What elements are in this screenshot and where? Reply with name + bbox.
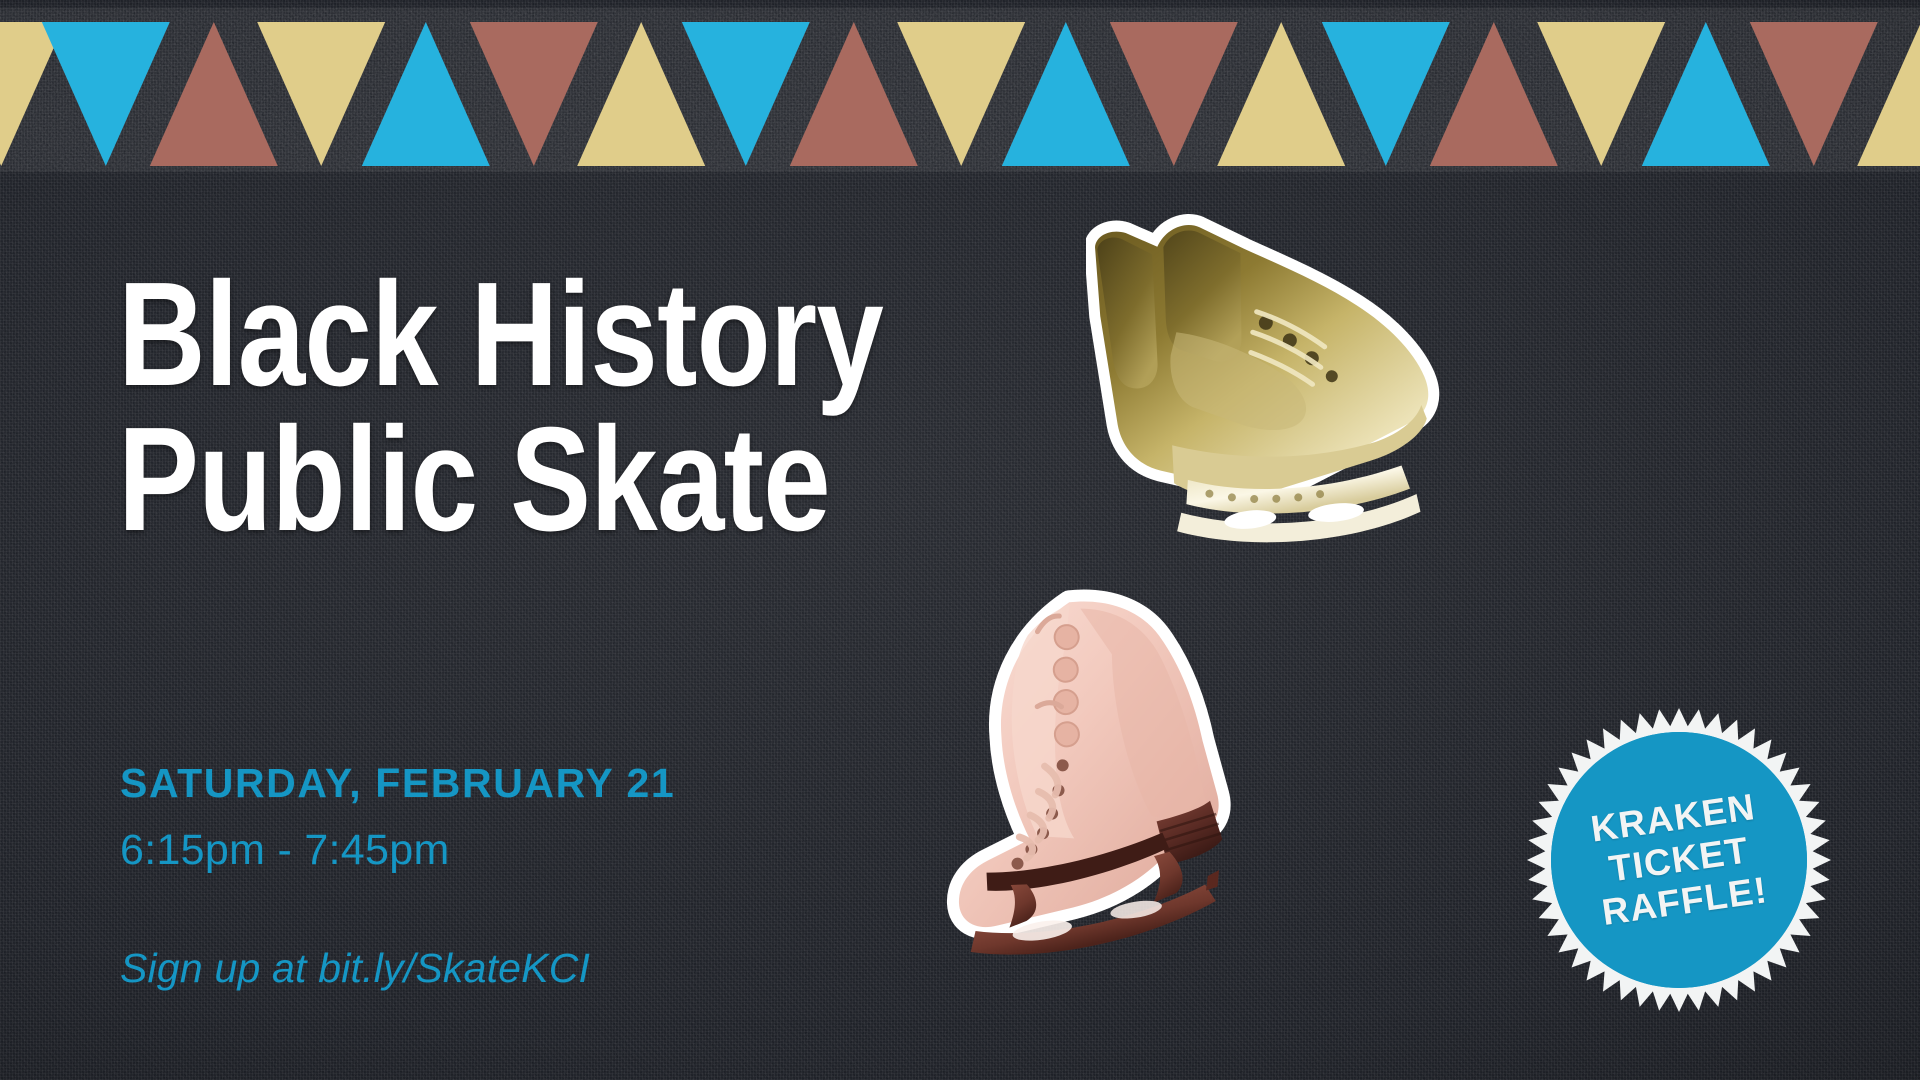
triangle-border-pattern: [0, 0, 1920, 172]
hockey-skate-image: [1086, 200, 1506, 560]
event-time: 6:15pm - 7:45pm: [120, 826, 450, 875]
figure-skate-image: [900, 560, 1320, 980]
border-triangle-cyan-up: [1642, 22, 1770, 166]
border-triangle-cyan-down: [682, 22, 810, 166]
border-triangle-gold-down: [257, 22, 385, 166]
border-triangle-cyan-up: [362, 22, 490, 166]
border-triangle-gold-down: [897, 22, 1025, 166]
border-triangle-rust-up: [150, 22, 278, 166]
headline-line-1: Black History: [118, 262, 823, 407]
border-triangle-cyan-down: [42, 22, 170, 166]
border-triangle-gold-down: [1537, 22, 1665, 166]
poster-canvas: Black History Public Skate SATURDAY, FEB…: [0, 0, 1920, 1080]
kraken-ticket-raffle-badge[interactable]: KRAKEN TICKET RAFFLE!: [1524, 700, 1834, 1020]
border-triangle-rust-up: [790, 22, 918, 166]
headline-block: Black History Public Skate: [118, 262, 978, 552]
event-date: SATURDAY, FEBRUARY 21: [120, 760, 675, 807]
badge-starburst-icon: [1524, 700, 1834, 1020]
border-triangle-gold-up: [577, 22, 705, 166]
border-triangle-rust-down: [1110, 22, 1238, 166]
border-triangle-cyan-up: [1002, 22, 1130, 166]
border-triangle-gold-up: [1217, 22, 1345, 166]
border-triangle-cyan-down: [1322, 22, 1450, 166]
border-triangle-rust-up: [1430, 22, 1558, 166]
border-triangle-rust-down: [1750, 22, 1878, 166]
headline-line-2: Public Skate: [118, 407, 823, 552]
signup-link[interactable]: Sign up at bit.ly/SkateKCI: [120, 945, 590, 992]
border-triangle-rust-down: [470, 22, 598, 166]
